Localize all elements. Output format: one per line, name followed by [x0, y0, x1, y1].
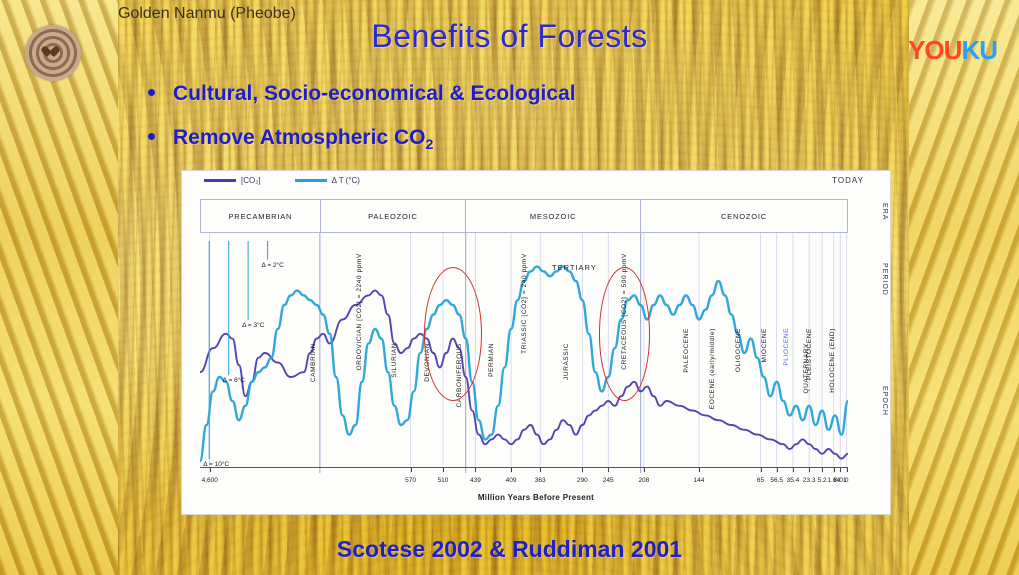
wood-left-panel	[0, 0, 118, 575]
period-label-tertiary: TERTIARY	[552, 263, 597, 272]
bullet-list: Cultural, Socio-economical & Ecological …	[148, 82, 576, 173]
period-label-6: TRIASSIC [CO2] = 240 ppmV	[521, 253, 528, 354]
page-title: Benefits of Forests	[0, 18, 1019, 55]
legend-swatch-temperature-icon	[295, 179, 327, 182]
x-tick-label-9: 144	[694, 477, 705, 484]
list-item: Cultural, Socio-economical & Ecological	[148, 82, 576, 106]
period-label-2: SILURIAN	[391, 343, 398, 378]
epoch-label-0: PALEOCENE	[683, 328, 690, 373]
x-axis-ticks: 4,6005705104394093632902452081446556.535…	[200, 471, 848, 491]
x-tick-label-3: 439	[470, 477, 481, 484]
period-label-1: ORDOVICIAN [CO2] = 2240 ppmV	[356, 253, 363, 370]
epoch-label-5: PLEISTOCENE	[806, 328, 813, 380]
x-tick-label-11: 56.5	[770, 477, 783, 484]
bullet-text: Cultural, Socio-economical & Ecological	[173, 82, 576, 106]
x-axis-line	[200, 467, 848, 468]
x-tick-label-10: 65	[757, 477, 764, 484]
row-label-epoch: EPOCH	[881, 386, 888, 416]
x-tick-label-5: 363	[535, 477, 546, 484]
highlight-ellipse-1	[599, 267, 651, 401]
plot-overlay: CAMBRIANORDOVICIAN [CO2] = 2240 ppmVSILU…	[200, 233, 848, 473]
citation-text: Scotese 2002 & Ruddiman 2001	[0, 536, 1019, 563]
temperature-delta-label-1: Δ = 3°C	[242, 322, 264, 329]
legend-label-co2: [CO₂]	[241, 176, 261, 185]
legend-item-temperature: Δ T (°C)	[295, 176, 360, 185]
x-tick-label-2: 510	[438, 477, 449, 484]
presentation-slide: Golden Nanmu (Pheobe) Benefits of Forest…	[0, 0, 1019, 575]
x-tick-label-0: 4,600	[202, 477, 218, 484]
period-label-7: JURASSIC	[563, 343, 570, 380]
row-label-era: ERA	[881, 203, 888, 220]
x-axis-title: Million Years Before Present	[182, 493, 890, 502]
list-item: Remove Atmospheric CO2	[148, 126, 576, 153]
epoch-label-6: HOLOCENE (END)	[829, 328, 836, 393]
legend-swatch-co2-icon	[204, 179, 236, 182]
x-tick-label-8: 208	[638, 477, 649, 484]
temperature-delta-label-0: Δ = 2°C	[262, 262, 284, 269]
geologic-co2-temperature-chart: [CO₂] Δ T (°C) TODAY PRECAMBRIANPALEOZOI…	[181, 170, 891, 515]
period-label-0: CAMBRIAN	[310, 343, 317, 382]
chart-legend: [CO₂] Δ T (°C)	[204, 176, 360, 185]
x-tick-label-13: 23.3	[803, 477, 816, 484]
bullet-dot-icon	[148, 89, 155, 96]
period-label-5: PERMIAN	[488, 343, 495, 377]
bullet-subscript: 2	[425, 137, 433, 153]
era-cell-1: PALEOZOIC	[321, 200, 467, 232]
era-header-table: PRECAMBRIANPALEOZOICMESOZOICCENOZOIC	[200, 199, 848, 233]
epoch-label-1: EOCENE (early/middle)	[709, 328, 716, 409]
era-cell-0: PRECAMBRIAN	[201, 200, 321, 232]
x-tick-label-14: 5.2	[818, 477, 827, 484]
highlight-ellipse-0	[424, 267, 482, 401]
x-tick-label-7: 245	[603, 477, 614, 484]
youku-watermark-part1: YOU	[908, 35, 961, 65]
youku-watermark: YOUKU	[908, 35, 997, 66]
epoch-label-2: OLIGOCENE	[735, 328, 742, 372]
legend-item-co2: [CO₂]	[204, 176, 261, 185]
row-label-period: PERIOD	[881, 263, 888, 296]
epoch-label-4: PLIOCENE	[783, 328, 790, 366]
x-tick-label-4: 409	[506, 477, 517, 484]
x-tick-label-17: 0	[845, 477, 849, 484]
x-tick-label-1: 570	[405, 477, 416, 484]
today-label: TODAY	[832, 176, 864, 185]
era-cell-2: MESOZOIC	[466, 200, 641, 232]
plot-area: CAMBRIANORDOVICIAN [CO2] = 2240 ppmVSILU…	[200, 233, 848, 575]
era-row: PRECAMBRIANPALEOZOICMESOZOICCENOZOIC	[200, 199, 848, 233]
bullet-dot-icon	[148, 133, 155, 140]
bullet-text: Remove Atmospheric CO2	[173, 126, 433, 153]
x-tick-label-12: 35.4	[787, 477, 800, 484]
temperature-delta-label-2: Δ = 6°C	[223, 377, 245, 384]
wood-right-panel	[909, 0, 1019, 575]
era-cell-3: CENOZOIC	[641, 200, 848, 232]
x-tick-label-6: 290	[577, 477, 588, 484]
legend-label-temperature: Δ T (°C)	[332, 176, 360, 185]
epoch-label-3: MIOCENE	[761, 328, 768, 363]
youku-watermark-part2: KU	[961, 35, 997, 65]
